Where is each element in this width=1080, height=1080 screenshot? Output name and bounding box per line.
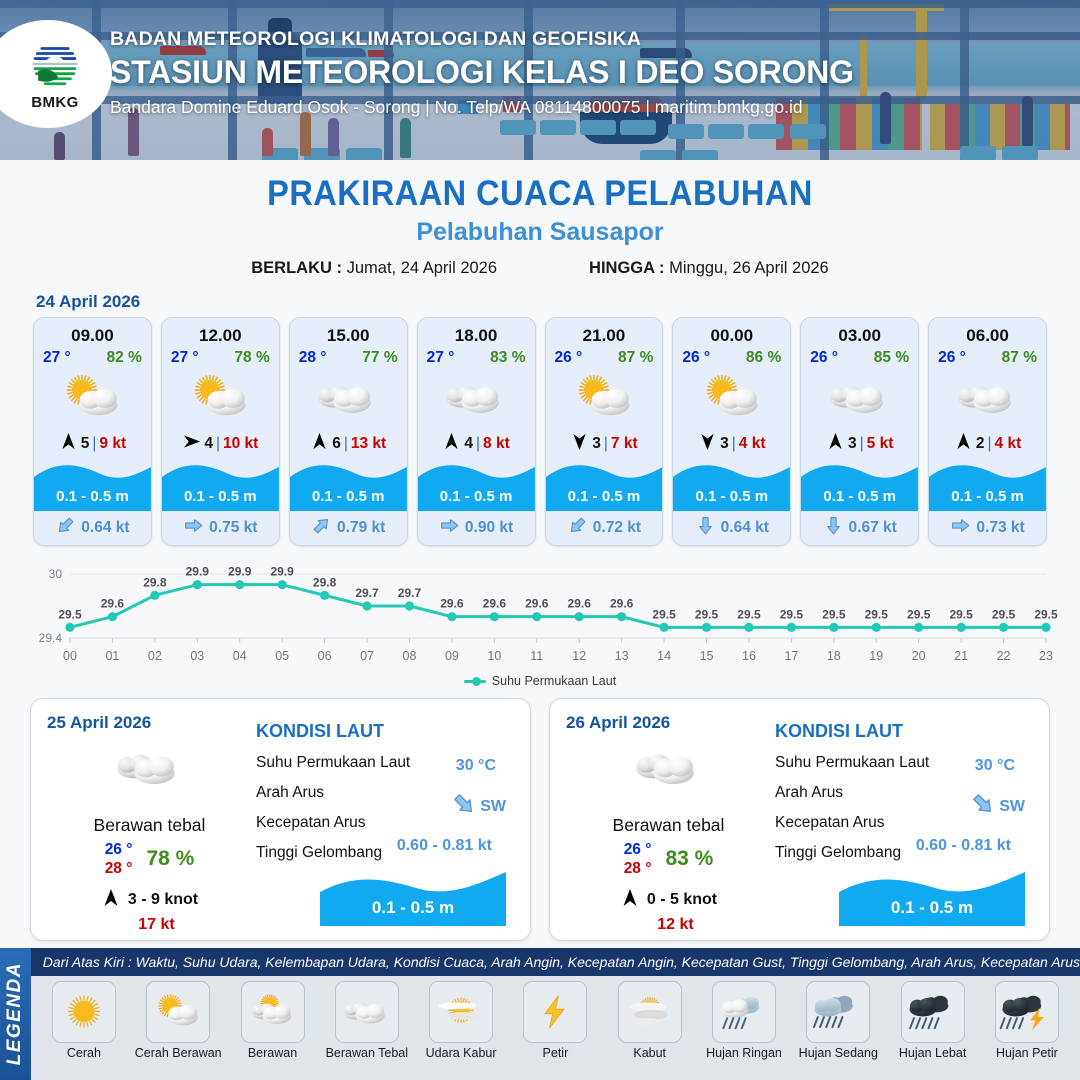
card-wind: 3 | 7 kt [546, 429, 663, 459]
panel-wind: 3 - 9 knot [47, 888, 252, 913]
current-direction-icon [51, 511, 81, 541]
panel-temp-max: 28 ° [624, 859, 652, 878]
card-temp-hum: 26 ° 87 % [929, 346, 1046, 367]
card-wind-speed: 3 [848, 435, 857, 453]
current-speed-value: 0.60 - 0.81 kt [916, 837, 1011, 855]
svg-text:29.7: 29.7 [398, 586, 422, 600]
wave-badge: 0.1 - 0.5 m [839, 870, 1025, 926]
wind-arrow [698, 432, 717, 456]
current-speed-value: 0.60 - 0.81 kt [397, 837, 492, 855]
legend-icon-box [806, 981, 870, 1043]
page-title: PRAKIRAAN CUACA PELABUHAN [38, 174, 1042, 214]
svg-text:03: 03 [190, 649, 204, 663]
card-time: 21.00 [546, 318, 663, 346]
card-wave-height: 0.1 - 0.5 m [929, 488, 1046, 505]
forecast-card[interactable]: 12.00 27 ° 78 % 4 | 10 kt 0.1 - 0.5 [161, 317, 280, 546]
panel-wind-range: 3 - 9 knot [128, 891, 198, 909]
panel-date: 25 April 2026 [47, 713, 252, 733]
sst-chart: 3029.40001020304050607080910111213141516… [22, 560, 1058, 670]
separator: | [476, 435, 480, 453]
valid-until-value: Minggu, 26 April 2026 [669, 259, 829, 277]
card-gust: 8 kt [483, 435, 510, 453]
panel-gust: 17 kt [61, 916, 252, 934]
svg-text:29.5: 29.5 [907, 607, 931, 621]
legend-item: Cerah [37, 981, 131, 1060]
panel-wind-range: 0 - 5 knot [647, 891, 717, 909]
card-wave-height: 0.1 - 0.5 m [418, 488, 535, 505]
legend-side-title: LEGENDA [0, 948, 31, 1080]
card-wave-band: 0.1 - 0.5 m [34, 459, 151, 511]
svg-text:29.9: 29.9 [270, 565, 294, 579]
svg-text:29.4: 29.4 [39, 631, 63, 645]
svg-text:29.6: 29.6 [568, 597, 592, 611]
card-gust: 7 kt [611, 435, 638, 453]
svg-text:15: 15 [700, 649, 714, 663]
card-current-speed: 0.64 kt [81, 519, 129, 537]
card-current-speed: 0.67 kt [849, 519, 897, 537]
card-time: 00.00 [673, 318, 790, 346]
panel-wind: 0 - 5 knot [566, 888, 771, 913]
card-current-speed: 0.64 kt [721, 519, 769, 537]
panel-temp-min: 26 ° [105, 840, 133, 859]
card-time: 18.00 [418, 318, 535, 346]
forecast-card[interactable]: 03.00 26 ° 85 % 3 | 5 kt [800, 317, 919, 546]
panel-humidity: 78 % [146, 847, 194, 871]
card-wind-speed: 3 [720, 435, 729, 453]
chart-legend-label: Suhu Permukaan Laut [492, 674, 616, 688]
card-wind-speed: 2 [976, 435, 985, 453]
svg-text:05: 05 [275, 649, 289, 663]
card-time: 12.00 [162, 318, 279, 346]
wind-direction-icon [826, 432, 845, 451]
card-weather-icon [34, 367, 151, 429]
current-arrow [823, 515, 844, 541]
forecast-date-label: 24 April 2026 [36, 292, 1080, 312]
card-current: 0.64 kt [673, 511, 790, 545]
legend-item-label: Kabut [633, 1046, 666, 1060]
svg-text:23: 23 [1039, 649, 1053, 663]
svg-text:07: 07 [360, 649, 374, 663]
legend-item-label: Berawan Tebal [326, 1046, 408, 1060]
card-current: 0.67 kt [801, 511, 918, 545]
legend-icon-box [901, 981, 965, 1043]
legend-icon-box [523, 981, 587, 1043]
legend-item-label: Petir [543, 1046, 569, 1060]
card-weather-icon [673, 367, 790, 429]
svg-text:16: 16 [742, 649, 756, 663]
card-temperature: 26 ° [938, 349, 966, 367]
card-wind-speed: 4 [204, 435, 213, 453]
legend-side-text: LEGENDA [4, 962, 26, 1065]
card-current-speed: 0.72 kt [593, 519, 641, 537]
legend-icon-box [995, 981, 1059, 1043]
hourly-forecast-row: 09.00 27 ° 82 % 5 | 9 kt 0.1 - 0.5 m [0, 317, 1080, 546]
svg-text:11: 11 [530, 649, 543, 663]
card-current: 0.64 kt [34, 511, 151, 545]
card-weather-icon [546, 367, 663, 429]
legend-icon-box [712, 981, 776, 1043]
panel-left: 25 April 2026 Berawan tebal 26 ° 28 ° 78… [47, 713, 252, 928]
forecast-card[interactable]: 09.00 27 ° 82 % 5 | 9 kt 0.1 - 0.5 m [33, 317, 152, 546]
card-wave-height: 0.1 - 0.5 m [290, 488, 407, 505]
card-wind: 3 | 5 kt [801, 429, 918, 459]
card-current-speed: 0.73 kt [976, 519, 1024, 537]
legend-icon-box [429, 981, 493, 1043]
card-gust: 10 kt [223, 435, 258, 453]
sst-value: 30 °C [456, 757, 496, 775]
svg-text:00: 00 [63, 649, 77, 663]
card-wave-band: 0.1 - 0.5 m [673, 459, 790, 511]
current-arrow [439, 515, 460, 541]
card-current: 0.75 kt [162, 511, 279, 545]
legend-item-label: Hujan Lebat [899, 1046, 966, 1060]
panel-condition: Berawan tebal [47, 815, 252, 836]
svg-text:29.5: 29.5 [949, 607, 973, 621]
card-humidity: 82 % [107, 349, 142, 367]
separator: | [216, 435, 220, 453]
svg-text:20: 20 [912, 649, 926, 663]
wind-arrow [570, 432, 589, 456]
card-wave-band: 0.1 - 0.5 m [290, 459, 407, 511]
sst-chart-svg: 3029.40001020304050607080910111213141516… [22, 560, 1058, 670]
wind-arrow [59, 432, 78, 456]
card-current-speed: 0.79 kt [337, 519, 385, 537]
legend-item: Hujan Petir [980, 981, 1074, 1060]
svg-text:04: 04 [233, 649, 247, 663]
card-current: 0.72 kt [546, 511, 663, 545]
daily-summary-row: 25 April 2026 Berawan tebal 26 ° 28 ° 78… [0, 688, 1080, 941]
current-arrow [183, 515, 204, 541]
legend-item: Cerah Berawan [131, 981, 225, 1060]
card-current-speed: 0.75 kt [209, 519, 257, 537]
card-time: 06.00 [929, 318, 1046, 346]
wave-height-value: 0.1 - 0.5 m [320, 898, 506, 918]
svg-text:08: 08 [403, 649, 417, 663]
current-dir-text: SW [999, 798, 1025, 816]
wind-arrow [101, 888, 121, 913]
current-arrow [695, 515, 716, 541]
card-wave-band: 0.1 - 0.5 m [929, 459, 1046, 511]
current-arrow [451, 791, 477, 822]
card-wind-speed: 4 [464, 435, 473, 453]
card-wind: 2 | 4 kt [929, 429, 1046, 459]
sea-conditions-title: KONDISI LAUT [256, 721, 514, 742]
svg-text:30: 30 [49, 567, 63, 581]
panel-gust: 12 kt [580, 916, 771, 934]
panel-left: 26 April 2026 Berawan tebal 26 ° 28 ° 83… [566, 713, 771, 928]
card-wind: 4 | 8 kt [418, 429, 535, 459]
legend-line-icon [464, 680, 486, 683]
sea-conditions-title: KONDISI LAUT [775, 721, 1033, 742]
current-direction-icon [562, 511, 592, 541]
card-humidity: 87 % [1002, 349, 1037, 367]
station-name: STASIUN METEOROLOGI KELAS I DEO SORONG [110, 54, 854, 91]
card-wind-speed: 5 [81, 435, 90, 453]
svg-text:29.5: 29.5 [737, 607, 761, 621]
svg-text:29.6: 29.6 [440, 597, 464, 611]
card-temperature: 28 ° [299, 349, 327, 367]
panel-weather-icon [566, 737, 771, 799]
svg-text:29.5: 29.5 [695, 607, 719, 621]
current-arrow [311, 515, 332, 541]
svg-text:13: 13 [615, 649, 629, 663]
svg-text:29.5: 29.5 [652, 607, 676, 621]
wind-direction-icon [182, 432, 201, 451]
separator: | [344, 435, 348, 453]
card-temp-hum: 27 ° 82 % [34, 346, 151, 367]
legend-icon-box [335, 981, 399, 1043]
current-direction-icon [695, 515, 716, 536]
legend-item-label: Berawan [248, 1046, 297, 1060]
legend-item-label: Cerah [67, 1046, 101, 1060]
card-temperature: 26 ° [682, 349, 710, 367]
bmkg-logo-label: BMKG [31, 94, 78, 111]
card-weather-icon [290, 367, 407, 429]
svg-text:17: 17 [784, 649, 798, 663]
chart-legend: Suhu Permukaan Laut [0, 674, 1080, 688]
valid-from-label: BERLAKU : [251, 259, 342, 277]
current-direction-icon [823, 515, 844, 536]
daily-summary-panel[interactable]: 25 April 2026 Berawan tebal 26 ° 28 ° 78… [30, 698, 531, 941]
panel-humidity: 83 % [665, 847, 713, 871]
panel-date: 26 April 2026 [566, 713, 771, 733]
card-wind: 3 | 4 kt [673, 429, 790, 459]
wind-arrow [310, 432, 329, 456]
contact-info: Bandara Domine Eduard Osok - Sorong | No… [110, 97, 854, 118]
card-temperature: 27 ° [427, 349, 455, 367]
wind-direction-icon [570, 432, 589, 451]
card-current: 0.79 kt [290, 511, 407, 545]
legend-section: LEGENDA Dari Atas Kiri : Waktu, Suhu Uda… [0, 948, 1080, 1080]
current-direction-icon [439, 515, 460, 536]
legend-item-label: Hujan Ringan [706, 1046, 782, 1060]
current-dir-value: SW [970, 791, 1025, 822]
wind-arrow [826, 432, 845, 456]
legend-item: Kabut [603, 981, 697, 1060]
card-temperature: 26 ° [555, 349, 583, 367]
agency-name: BADAN METEOROLOGI KLIMATOLOGI DAN GEOFIS… [110, 28, 854, 51]
card-wave-height: 0.1 - 0.5 m [546, 488, 663, 505]
panel-condition: Berawan tebal [566, 815, 771, 836]
title-block: PRAKIRAAN CUACA PELABUHAN Pelabuhan Saus… [0, 174, 1080, 278]
forecast-card[interactable]: 15.00 28 ° 77 % 6 | 13 kt [289, 317, 408, 546]
valid-from: BERLAKU : Jumat, 24 April 2026 [251, 259, 497, 278]
card-temperature: 26 ° [810, 349, 838, 367]
card-weather-icon [929, 367, 1046, 429]
legend-item-label: Hujan Petir [996, 1046, 1058, 1060]
current-dir-value: SW [451, 791, 506, 822]
legend-items-row: Cerah Cerah Berawan Berawan [31, 976, 1080, 1060]
separator: | [860, 435, 864, 453]
card-gust: 5 kt [867, 435, 894, 453]
card-wind: 4 | 10 kt [162, 429, 279, 459]
card-humidity: 87 % [618, 349, 653, 367]
sst-value: 30 °C [975, 757, 1015, 775]
separator: | [604, 435, 608, 453]
forecast-card[interactable]: 18.00 27 ° 83 % 4 | 8 kt [417, 317, 536, 546]
svg-text:29.8: 29.8 [143, 575, 167, 589]
card-wave-height: 0.1 - 0.5 m [162, 488, 279, 505]
wind-direction-icon [442, 432, 461, 451]
card-humidity: 77 % [362, 349, 397, 367]
card-humidity: 86 % [746, 349, 781, 367]
panel-temp-hum: 26 ° 28 ° 78 % [47, 840, 252, 879]
card-time: 15.00 [290, 318, 407, 346]
card-temp-hum: 26 ° 85 % [801, 346, 918, 367]
svg-text:29.8: 29.8 [313, 575, 337, 589]
svg-text:29.9: 29.9 [186, 565, 210, 579]
bmkg-logo-mark [27, 37, 83, 93]
card-temp-hum: 26 ° 86 % [673, 346, 790, 367]
legend-item: Hujan Ringan [697, 981, 791, 1060]
legend-item: Berawan Tebal [320, 981, 414, 1060]
svg-text:02: 02 [148, 649, 162, 663]
card-temperature: 27 ° [43, 349, 71, 367]
card-current-speed: 0.90 kt [465, 519, 513, 537]
current-arrow [567, 515, 588, 541]
panel-temp-min: 26 ° [624, 840, 652, 859]
svg-text:29.6: 29.6 [610, 597, 634, 611]
panel-temp-max: 28 ° [105, 859, 133, 878]
svg-text:19: 19 [869, 649, 883, 663]
wind-direction-icon [954, 432, 973, 451]
card-wave-band: 0.1 - 0.5 m [418, 459, 535, 511]
legend-icon-box [52, 981, 116, 1043]
forecast-card[interactable]: 00.00 26 ° 86 % 3 | 4 kt 0.1 - 0.5 m [672, 317, 791, 546]
port-name: Pelabuhan Sausapor [0, 218, 1080, 247]
svg-text:29.6: 29.6 [101, 597, 125, 611]
svg-text:21: 21 [954, 649, 968, 663]
svg-text:14: 14 [657, 649, 671, 663]
separator: | [988, 435, 992, 453]
card-temp-hum: 28 ° 77 % [290, 346, 407, 367]
wind-arrow [182, 432, 201, 456]
panel-temps: 26 ° 28 ° [105, 840, 133, 879]
panel-right: KONDISI LAUT Suhu Permukaan Laut 30 °C A… [771, 713, 1033, 928]
svg-text:29.9: 29.9 [228, 565, 252, 579]
svg-text:29.5: 29.5 [992, 607, 1016, 621]
panel-temp-hum: 26 ° 28 ° 83 % [566, 840, 771, 879]
card-time: 03.00 [801, 318, 918, 346]
legend-icon-box [146, 981, 210, 1043]
current-direction-icon [965, 786, 1002, 823]
legend-item-label: Hujan Sedang [799, 1046, 878, 1060]
wind-direction-icon [698, 432, 717, 451]
current-direction-icon [446, 786, 483, 823]
card-wind: 6 | 13 kt [290, 429, 407, 459]
card-humidity: 78 % [234, 349, 269, 367]
wind-arrow [954, 432, 973, 456]
card-temp-hum: 26 ° 87 % [546, 346, 663, 367]
card-gust: 13 kt [351, 435, 386, 453]
card-weather-icon [162, 367, 279, 429]
wave-height-value: 0.1 - 0.5 m [839, 898, 1025, 918]
card-weather-icon [418, 367, 535, 429]
svg-text:10: 10 [487, 649, 501, 663]
daily-summary-panel[interactable]: 26 April 2026 Berawan tebal 26 ° 28 ° 83… [549, 698, 1050, 941]
valid-until-label: HINGGA : [589, 259, 664, 277]
panel-right: KONDISI LAUT Suhu Permukaan Laut 30 °C A… [252, 713, 514, 928]
wind-direction-icon [101, 888, 121, 908]
svg-text:06: 06 [318, 649, 332, 663]
svg-text:12: 12 [572, 649, 586, 663]
wind-arrow [442, 432, 461, 456]
wave-badge: 0.1 - 0.5 m [320, 870, 506, 926]
current-direction-icon [950, 515, 971, 536]
page-header: BMKG BADAN METEOROLOGI KLIMATOLOGI DAN G… [0, 0, 1080, 160]
card-wind-speed: 3 [592, 435, 601, 453]
card-current: 0.73 kt [929, 511, 1046, 545]
current-dir-text: SW [480, 798, 506, 816]
legend-item: Hujan Sedang [791, 981, 885, 1060]
card-humidity: 85 % [874, 349, 909, 367]
card-wave-band: 0.1 - 0.5 m [162, 459, 279, 511]
card-gust: 4 kt [995, 435, 1022, 453]
card-temp-hum: 27 ° 83 % [418, 346, 535, 367]
card-temperature: 27 ° [171, 349, 199, 367]
validity-row: BERLAKU : Jumat, 24 April 2026 HINGGA : … [0, 259, 1080, 278]
card-time: 09.00 [34, 318, 151, 346]
valid-until: HINGGA : Minggu, 26 April 2026 [589, 259, 829, 278]
svg-text:01: 01 [105, 649, 119, 663]
current-direction-icon [183, 515, 204, 536]
svg-text:18: 18 [827, 649, 841, 663]
header-text-block: BADAN METEOROLOGI KLIMATOLOGI DAN GEOFIS… [110, 28, 854, 118]
legend-description: Dari Atas Kiri : Waktu, Suhu Udara, Kele… [31, 948, 1080, 976]
svg-text:29.5: 29.5 [865, 607, 889, 621]
svg-text:29.7: 29.7 [355, 586, 379, 600]
current-direction-icon [307, 511, 337, 541]
card-weather-icon [801, 367, 918, 429]
card-gust: 9 kt [99, 435, 126, 453]
card-humidity: 83 % [490, 349, 525, 367]
svg-text:22: 22 [997, 649, 1011, 663]
svg-text:29.5: 29.5 [822, 607, 846, 621]
svg-text:29.6: 29.6 [525, 597, 549, 611]
wind-direction-icon [620, 888, 640, 908]
legend-item-label: Udara Kabur [426, 1046, 497, 1060]
svg-text:29.5: 29.5 [1034, 607, 1058, 621]
forecast-card[interactable]: 06.00 26 ° 87 % 2 | 4 kt [928, 317, 1047, 546]
current-arrow [55, 515, 76, 541]
legend-item: Berawan [225, 981, 319, 1060]
svg-text:29.5: 29.5 [58, 607, 82, 621]
separator: | [732, 435, 736, 453]
wind-arrow [620, 888, 640, 913]
card-wave-height: 0.1 - 0.5 m [34, 488, 151, 505]
legend-item: Hujan Lebat [885, 981, 979, 1060]
wind-direction-icon [310, 432, 329, 451]
card-current: 0.90 kt [418, 511, 535, 545]
legend-item: Petir [508, 981, 602, 1060]
svg-text:09: 09 [445, 649, 459, 663]
svg-text:29.6: 29.6 [483, 597, 507, 611]
current-arrow [950, 515, 971, 541]
legend-icon-box [241, 981, 305, 1043]
forecast-card[interactable]: 21.00 26 ° 87 % 3 | 7 kt 0.1 - 0.5 m [545, 317, 664, 546]
separator: | [92, 435, 96, 453]
card-temp-hum: 27 ° 78 % [162, 346, 279, 367]
card-wind: 5 | 9 kt [34, 429, 151, 459]
card-wave-height: 0.1 - 0.5 m [673, 488, 790, 505]
legend-item-label: Cerah Berawan [135, 1046, 222, 1060]
valid-from-value: Jumat, 24 April 2026 [347, 259, 497, 277]
svg-text:29.5: 29.5 [780, 607, 804, 621]
card-gust: 4 kt [739, 435, 766, 453]
card-wave-band: 0.1 - 0.5 m [546, 459, 663, 511]
current-arrow [970, 791, 996, 822]
panel-weather-icon [47, 737, 252, 799]
